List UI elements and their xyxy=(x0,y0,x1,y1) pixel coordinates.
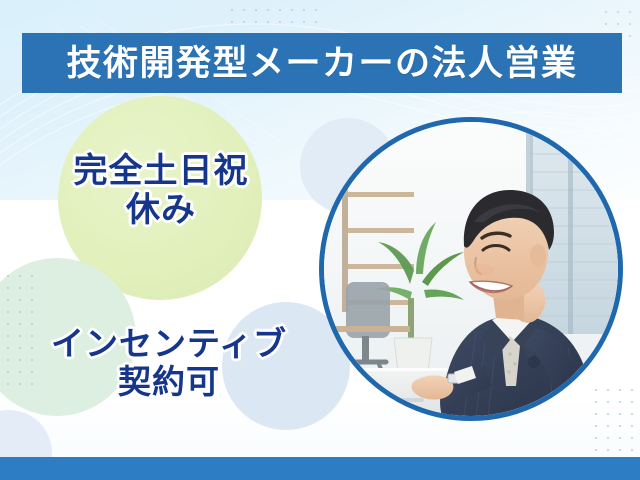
smiling-businessman-on-phone-photo xyxy=(319,117,623,421)
dot-grid-bottom-right xyxy=(588,382,640,456)
feature-incentive-line2: 契約可 xyxy=(24,363,314,401)
feature-holidays-line1: 完全土日祝 xyxy=(74,152,249,190)
feature-incentive-line1: インセンティブ xyxy=(51,325,287,362)
feature-incentive: インセンティブ 契約可 xyxy=(24,325,314,402)
feature-holidays-line2: 休み xyxy=(36,191,286,230)
headline-banner: 技術開発型メーカーの法人営業 xyxy=(22,33,622,93)
dot-grid-top-center xyxy=(224,2,322,32)
bottom-accent-bar xyxy=(0,457,640,480)
headline-text: 技術開発型メーカーの法人営業 xyxy=(66,46,577,81)
job-advertisement-poster: 技術開発型メーカーの法人営業 完全土日祝 休み インセンティブ 契約可 xyxy=(0,0,640,480)
feature-holidays: 完全土日祝 休み xyxy=(36,152,286,231)
